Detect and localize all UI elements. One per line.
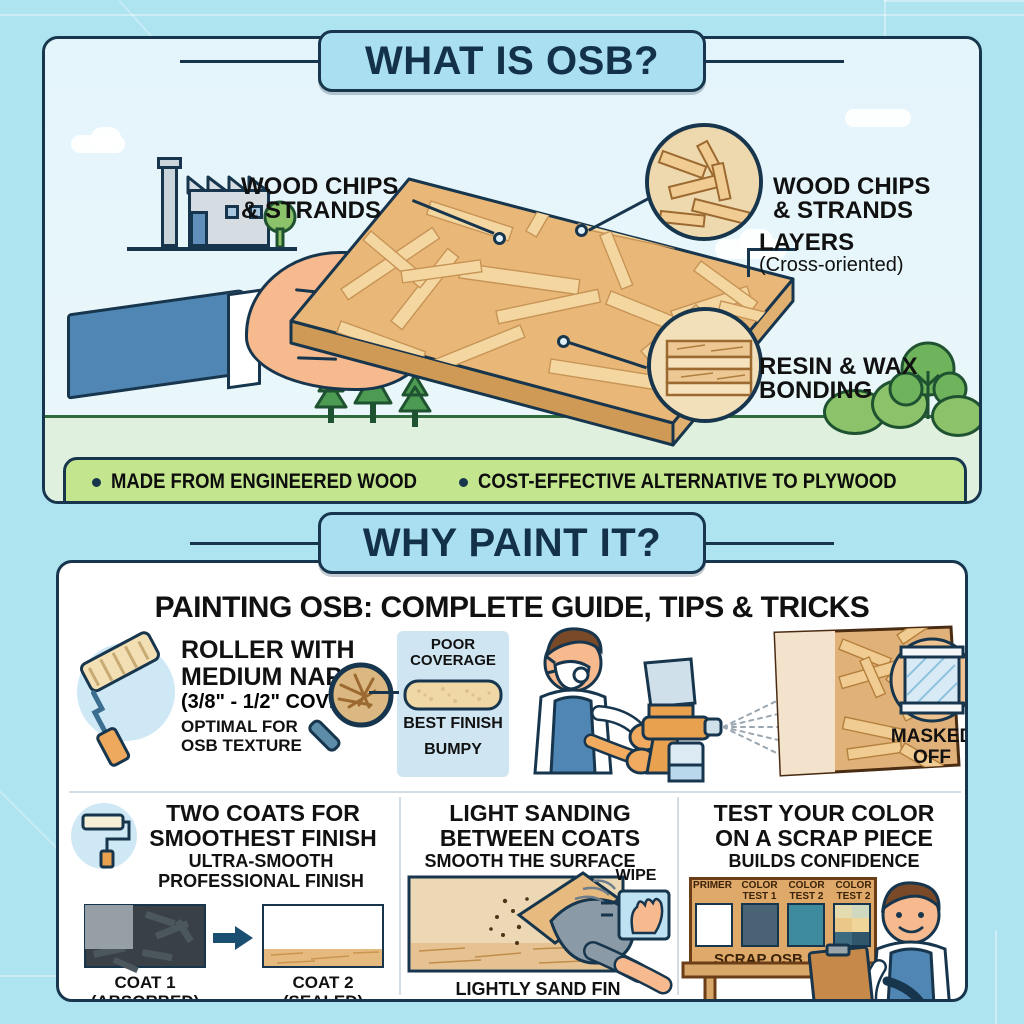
facts-column-right: COST-EFFECTIVE ALTERNATIVE TO PLYWOOD NA… [459, 468, 954, 504]
nap-roller-swatch [403, 679, 505, 713]
callout-line1: RESIN & WAX [759, 355, 918, 379]
arrow-right-icon [213, 925, 255, 951]
fact-item: NATURAL WOOD GRAIN & TEXTURE [459, 498, 954, 504]
callout-leader [747, 251, 750, 277]
sanding-title-line1: LIGHT SANDING [405, 801, 675, 826]
fact-item: COST-EFFECTIVE ALTERNATIVE TO PLYWOOD [459, 470, 954, 494]
swatch-label-line1: COLOR [786, 881, 828, 892]
worker-with-clipboard [851, 875, 968, 1002]
sanding-caption-line2: INTERMEDIATE SURFACE [405, 999, 671, 1002]
nap-label-coverage: COVERAGE [397, 653, 509, 669]
pill-rule-right [702, 60, 844, 63]
test-color-title-line2: ON A SCRAP PIECE [683, 826, 965, 851]
test-color-title-line1: TEST YOUR COLOR [683, 801, 965, 826]
coat2-label-line1: COAT 2 [255, 973, 391, 992]
cloud-icon [91, 127, 121, 149]
panel-test-color: TEST YOUR COLOR ON A SCRAP PIECE BUILDS … [683, 799, 965, 995]
magnifier-icon [311, 661, 397, 747]
why-paint-it-card: PAINTING OSB: COMPLETE GUIDE, TIPS & TRI… [56, 560, 968, 1002]
two-coats-sub-line1: ULTRA-SMOOTH [127, 851, 395, 871]
callout-line1: WOOD CHIPS [773, 175, 930, 199]
swatch-row [695, 903, 871, 947]
nap-label-best-finish: BEST FINISH [397, 715, 509, 733]
masked-off-label: MASKED OFF [879, 727, 968, 768]
callout-wood-chips-left: WOOD CHIPS & STRANDS [241, 175, 398, 224]
nap-label-poor: POOR [397, 637, 509, 653]
coat2-swatch [263, 905, 383, 967]
callout-layers: LAYERS (Cross-oriented) [759, 231, 903, 276]
facts-column-left: MADE FROM ENGINEERED WOOD STRONG AND STA… [92, 468, 459, 504]
coat1-label-line1: COAT 1 [77, 973, 213, 992]
fact-text: NATURAL WOOD GRAIN & TEXTURE [478, 498, 805, 504]
two-coats-title-line2: SMOOTHEST FINISH [135, 826, 391, 851]
swatch-labels-row: PRIMER COLOR TEST 1 COLOR TEST 2 COLOR T… [689, 881, 877, 902]
masked-off-zoom [889, 637, 968, 723]
callout-wood-chips-right: WOOD CHIPS & STRANDS [773, 175, 930, 224]
coat2-label-line2: (SEALED) [255, 992, 391, 1002]
zoom-layers [647, 307, 763, 423]
nap-label-bumpy: BUMPY [397, 741, 509, 759]
swatch-color-test-2a [787, 903, 825, 947]
fact-item: STRONG AND STABLE PANEL [92, 498, 459, 504]
swatch-color-test-1 [741, 903, 779, 947]
zoom-wood-chips [645, 123, 763, 241]
spray-gun-icon [639, 633, 771, 783]
coat1-label-line2: (ABSORBED) [77, 992, 213, 1002]
what-is-osb-card: WOOD CHIPS & STRANDS WOOD CHIPS & [42, 36, 982, 504]
panel-two-coats: TWO COATS FOR SMOOTHEST FINISH ULTRA-SMO… [67, 799, 397, 995]
callout-line2: & STRANDS [241, 199, 398, 223]
callout-dot [575, 224, 588, 237]
fact-item: MADE FROM ENGINEERED WOOD [92, 470, 459, 494]
guide-title: PAINTING OSB: COMPLETE GUIDE, TIPS & TRI… [59, 591, 965, 625]
swatch-label: COLOR TEST 1 [739, 881, 781, 902]
section-title-why-paint-it: WHY PAINT IT? [318, 512, 706, 574]
key-facts-band: MADE FROM ENGINEERED WOOD STRONG AND STA… [63, 457, 967, 504]
wipe-cloth-icon [601, 885, 673, 947]
cloud-icon [845, 109, 911, 127]
callout-line2: BONDING [759, 379, 918, 403]
pill-rule-left [180, 60, 322, 63]
swatch-label-line1: PRIMER [692, 881, 734, 892]
bg-line [0, 790, 64, 855]
roller-title-line1: ROLLER WITH [181, 637, 391, 664]
callout-line1: WOOD CHIPS [241, 175, 398, 199]
callout-line2: (Cross-oriented) [759, 255, 903, 275]
section-title-what-is-osb: WHAT IS OSB? [318, 30, 706, 92]
bush-icon [931, 395, 982, 437]
swatch-label-line1: COLOR [739, 881, 781, 892]
callout-line1: LAYERS [759, 231, 903, 255]
pill-rule-right [702, 542, 834, 545]
bullet-dot [92, 478, 101, 487]
coat1-swatch [85, 905, 205, 967]
fact-text: COST-EFFECTIVE ALTERNATIVE TO PLYWOOD [478, 470, 897, 494]
masked-line2: OFF [879, 748, 968, 769]
swatch-label-line2: TEST 2 [786, 892, 828, 903]
bg-line [884, 0, 1024, 2]
paint-roller-icon [71, 631, 191, 753]
pill-rule-left [190, 542, 322, 545]
divider [69, 791, 961, 793]
two-coats-sub-line2: PROFESSIONAL FINISH [127, 871, 395, 891]
bg-line [0, 14, 1024, 16]
infographic-page: WOOD CHIPS & STRANDS WOOD CHIPS & [0, 0, 1024, 1024]
nap-leader-line [369, 691, 399, 694]
nap-label-top: POOR COVERAGE [397, 637, 509, 669]
swatch-label-line2: TEST 1 [739, 892, 781, 903]
two-coats-title-line1: TWO COATS FOR [135, 801, 391, 826]
divider [399, 797, 401, 995]
panel-sanding: LIGHT SANDING BETWEEN COATS SMOOTH THE S… [405, 799, 675, 995]
test-color-sub: BUILDS CONFIDENCE [683, 851, 965, 871]
swatch-primer [695, 903, 733, 947]
bg-line [0, 975, 60, 977]
masked-line1: MASKED [879, 727, 968, 748]
bg-line [995, 930, 997, 1024]
sanding-title-line2: BETWEEN COATS [405, 826, 675, 851]
callout-dot [493, 232, 506, 245]
fact-text: MADE FROM ENGINEERED WOOD [111, 470, 417, 494]
callout-line2: & STRANDS [773, 199, 930, 223]
bullet-dot [459, 478, 468, 487]
callout-resin-wax: RESIN & WAX BONDING [759, 355, 918, 404]
wipe-label: WIPE [601, 867, 671, 885]
fact-text: STRONG AND STABLE PANEL [111, 498, 379, 504]
sanding-caption-line1: LIGHTLY SAND FIN [405, 979, 671, 999]
swatch-label: COLOR TEST 2 [786, 881, 828, 902]
swatch-label: PRIMER [692, 881, 734, 902]
